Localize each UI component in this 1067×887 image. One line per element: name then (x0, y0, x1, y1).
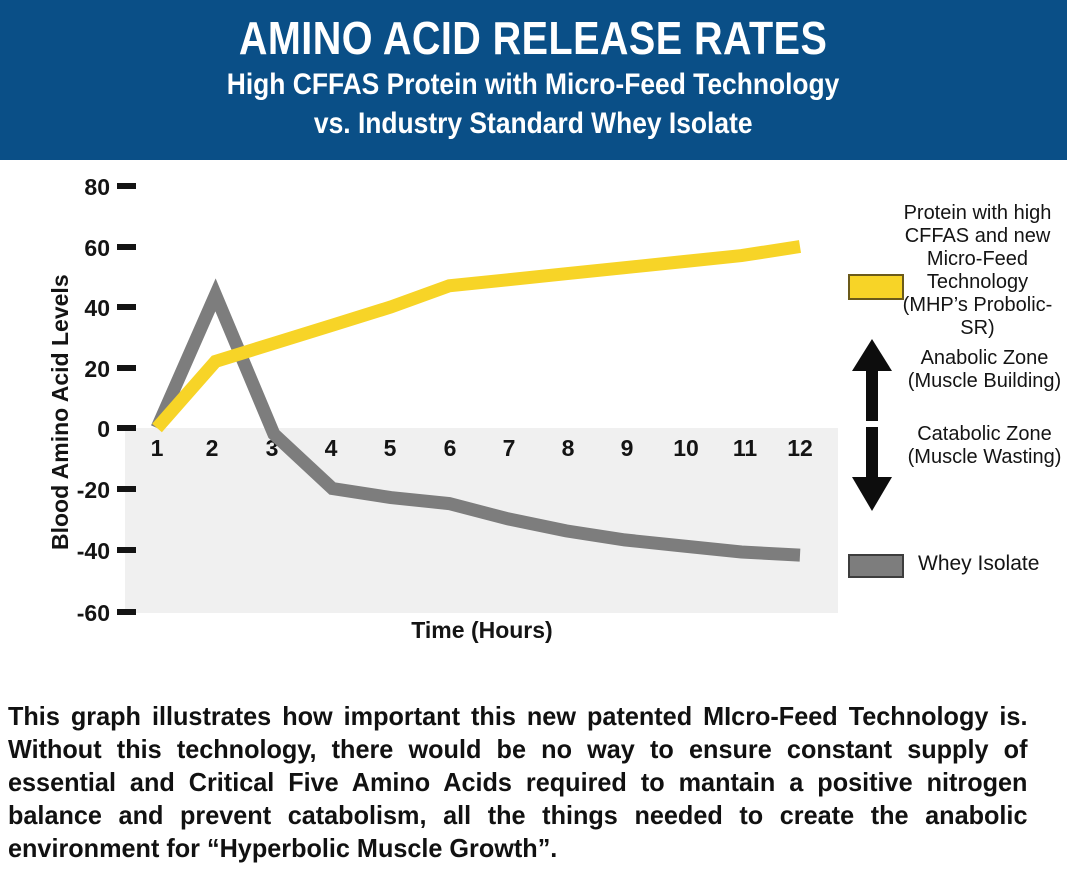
page-subtitle-line-1: High CFFAS Protein with Micro-Feed Techn… (227, 66, 840, 103)
legend-label-micro-feed: Protein with high CFFAS and new Micro-Fe… (888, 202, 1067, 340)
ytick-label-neg60: -60 (77, 600, 110, 626)
ytick-label-0: 0 (97, 416, 110, 442)
down-arrow-icon (852, 427, 892, 511)
y-axis-title: Blood Amino Acid Levels (47, 274, 73, 550)
ytick-label-60: 60 (84, 235, 110, 261)
ytick-label-neg20: -20 (77, 477, 110, 503)
catabolic-zone-line-2: (Muscle Wasting) (902, 446, 1067, 469)
legend-label-whey-isolate: Whey Isolate (918, 552, 1039, 576)
legend-entry-whey-isolate[interactable]: Whey Isolate (846, 548, 1067, 588)
xtick-label-4: 4 (325, 435, 338, 461)
x-axis-title: Time (Hours) (411, 617, 552, 643)
xtick-label-1: 1 (151, 435, 164, 461)
xtick-label-7: 7 (503, 435, 516, 461)
xtick-label-10: 10 (673, 435, 699, 461)
legend-label-line-5: (MHP’s Probolic-SR) (888, 294, 1067, 340)
xtick-label-8: 8 (562, 435, 575, 461)
zone-indicator-group: Anabolic Zone (Muscle Building) Cataboli… (846, 335, 1067, 515)
ytick-label-20: 20 (84, 356, 110, 382)
catabolic-zone-label: Catabolic Zone (Muscle Wasting) (902, 423, 1067, 469)
ytick-label-40: 40 (84, 295, 110, 321)
xtick-label-12: 12 (787, 435, 813, 461)
anabolic-zone-line-2: (Muscle Building) (902, 370, 1067, 393)
zone-arrows (846, 335, 906, 515)
description-paragraph: This graph illustrates how important thi… (8, 700, 1027, 865)
chart-legend: Protein with high CFFAS and new Micro-Fe… (846, 180, 1067, 620)
ytick-label-neg40: -40 (77, 538, 110, 564)
header-banner: AMINO ACID RELEASE RATES High CFFAS Prot… (0, 0, 1067, 160)
xtick-label-5: 5 (384, 435, 397, 461)
xtick-label-2: 2 (206, 435, 219, 461)
legend-label-line-1: Protein with high (888, 202, 1067, 225)
legend-label-line-4: Technology (888, 271, 1067, 294)
legend-swatch-gray (848, 554, 904, 578)
ytick-label-80: 80 (84, 174, 110, 200)
xtick-label-11: 11 (733, 435, 758, 461)
xtick-label-6: 6 (444, 435, 457, 461)
catabolic-shaded-band (125, 428, 838, 613)
page-title: AMINO ACID RELEASE RATES (239, 12, 827, 64)
catabolic-zone-line-1: Catabolic Zone (902, 423, 1067, 446)
anabolic-zone-label: Anabolic Zone (Muscle Building) (902, 347, 1067, 393)
page-subtitle-line-2: vs. Industry Standard Whey Isolate (314, 105, 753, 142)
up-arrow-icon (852, 339, 892, 421)
xtick-label-9: 9 (621, 435, 634, 461)
legend-label-line-2: CFFAS and new (888, 225, 1067, 248)
anabolic-zone-line-1: Anabolic Zone (902, 347, 1067, 370)
y-axis-ticks (117, 183, 136, 615)
legend-label-line-3: Micro-Feed (888, 248, 1067, 271)
